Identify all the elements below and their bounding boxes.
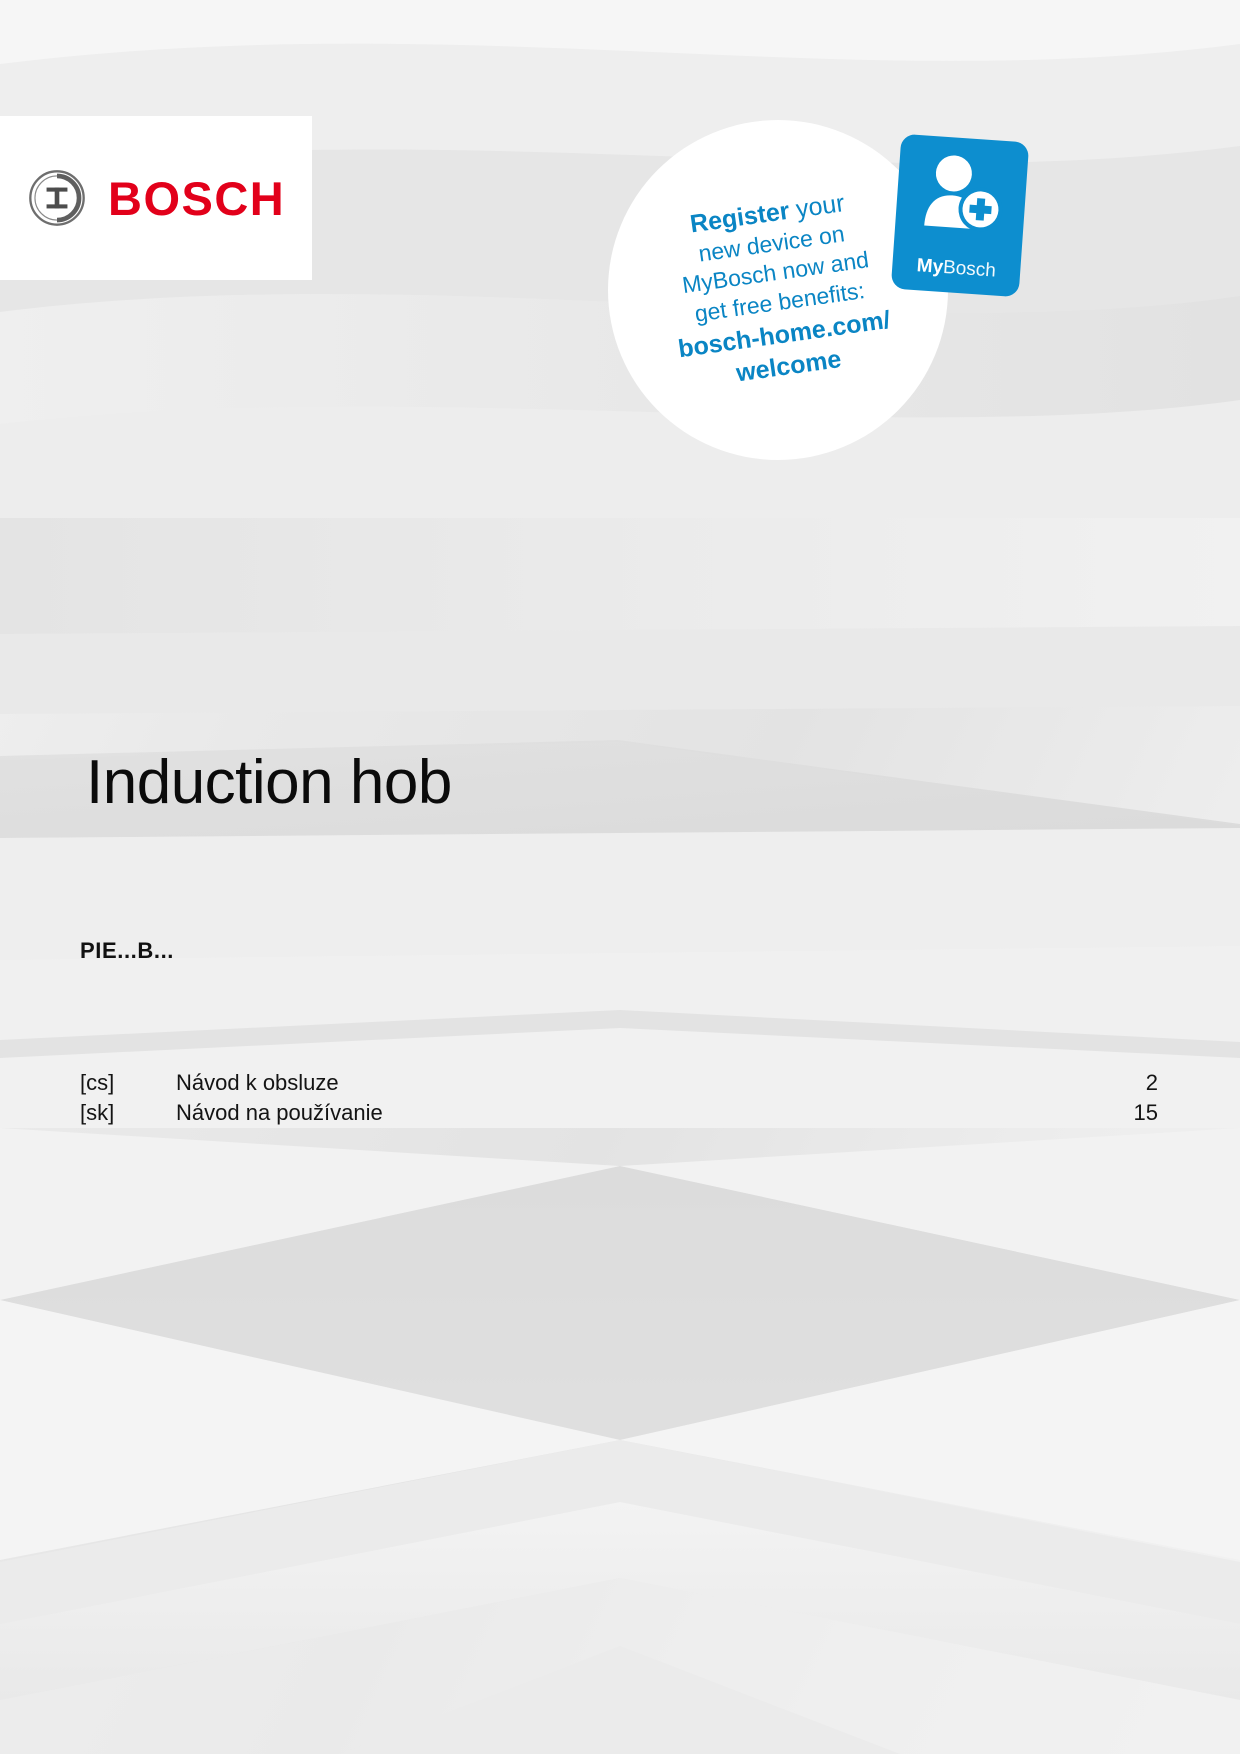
register-badge[interactable]: Register your new device on MyBosch now … [608, 120, 948, 460]
language-code: [sk] [80, 1098, 176, 1128]
mybosch-tile-label: MyBosch [892, 253, 1021, 284]
language-code: [cs] [80, 1068, 176, 1098]
language-manual-title: Návod na používanie [176, 1098, 1134, 1128]
bosch-armature-logo-icon [28, 169, 86, 227]
bosch-wordmark: BOSCH [108, 175, 285, 222]
language-page-number: 15 [1134, 1098, 1158, 1128]
table-row[interactable]: [cs] Návod k obsluze 2 [80, 1068, 1158, 1098]
language-page-number: 2 [1146, 1068, 1158, 1098]
mybosch-label-my: My [916, 255, 944, 278]
language-manual-title: Návod k obsluze [176, 1068, 1146, 1098]
mybosch-label-bosch: Bosch [942, 257, 996, 282]
language-index-table: [cs] Návod k obsluze 2 [sk] Návod na pou… [80, 1068, 1158, 1127]
mybosch-app-tile[interactable]: MyBosch [891, 134, 1030, 298]
bosch-logo-plate: BOSCH [0, 116, 312, 280]
model-code: PIE...B... [80, 938, 174, 964]
user-plus-icon [916, 151, 1007, 237]
manual-cover-page: BOSCH Register your new device on MyBosc… [0, 0, 1240, 1754]
page-title: Induction hob [86, 752, 452, 814]
table-row[interactable]: [sk] Návod na používanie 15 [80, 1098, 1158, 1128]
